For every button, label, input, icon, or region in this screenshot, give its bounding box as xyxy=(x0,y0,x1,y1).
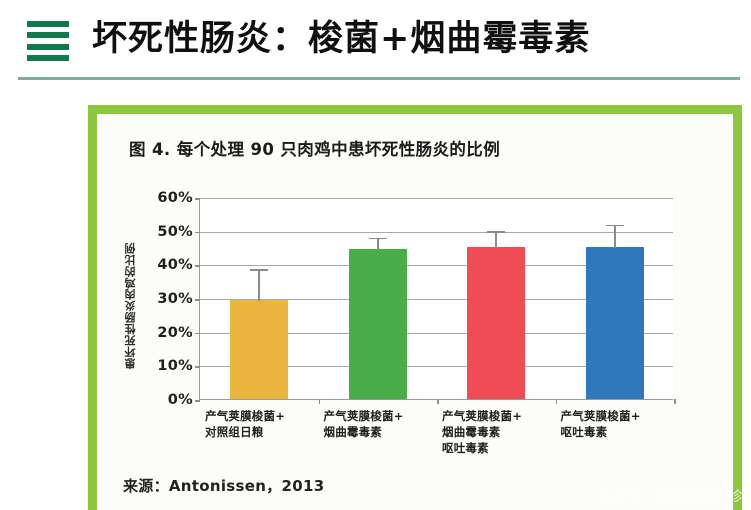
x-axis-tick-labels: 产气荚膜梭菌+对照组日粮产气荚膜梭菌+烟曲霉毒素产气荚膜梭菌+烟曲霉毒素呕吐毒素… xyxy=(199,408,685,478)
y-axis-title: 患坏死性肠炎肉鸡的比例 xyxy=(123,208,139,404)
y-axis-tick-label: 50% xyxy=(157,224,193,240)
error-bar-cap xyxy=(487,231,505,233)
x-axis-category-line: 烟曲霉毒素 xyxy=(324,424,437,440)
y-axis-tick-mark xyxy=(195,400,200,402)
y-axis-tick-label: 0% xyxy=(168,392,193,408)
y-axis-tick-mark xyxy=(195,333,200,335)
error-bar-stem xyxy=(495,231,497,248)
figure-source: 来源：Antonissen，2013 xyxy=(123,475,324,496)
y-axis-tick-mark xyxy=(195,299,200,301)
error-bar-cap xyxy=(250,269,268,271)
y-axis-tick-label: 40% xyxy=(157,257,193,273)
error-bar-stem xyxy=(377,238,379,250)
x-axis-category-line: 呕吐毒素 xyxy=(561,424,674,440)
page-title: 坏死性肠炎：梭菌+烟曲霉毒素 xyxy=(92,10,590,68)
x-axis-category-label: 产气荚膜梭菌+烟曲霉毒素 xyxy=(324,408,437,440)
error-bar-cap xyxy=(606,225,624,227)
x-axis-category-line: 产气荚膜梭菌+ xyxy=(205,408,318,424)
watermark: 头条号 / 网络鸡病门诊 xyxy=(597,486,743,506)
bar xyxy=(467,247,525,399)
y-axis-tick-mark xyxy=(195,232,200,234)
x-axis-category-line: 产气荚膜梭菌+ xyxy=(561,408,674,424)
error-bar-stem xyxy=(614,225,616,249)
x-axis-tick-mark xyxy=(319,399,321,404)
y-axis-tick-label: 10% xyxy=(157,358,193,374)
bar xyxy=(349,249,407,399)
x-axis-tick-mark xyxy=(556,399,558,404)
hamburger-bar-2 xyxy=(27,32,69,38)
x-axis-category-line: 呕吐毒素 xyxy=(442,440,555,456)
error-bar-stem xyxy=(258,269,260,301)
x-axis-category-label: 产气荚膜梭菌+呕吐毒素 xyxy=(561,408,674,440)
figure-card: 图 4. 每个处理 90 只肉鸡中患坏死性肠炎的比例 患坏死性肠炎肉鸡的比例 6… xyxy=(88,105,742,510)
figure-inner-panel: 图 4. 每个处理 90 只肉鸡中患坏死性肠炎的比例 患坏死性肠炎肉鸡的比例 6… xyxy=(97,114,733,510)
hamburger-bar-3 xyxy=(27,44,69,50)
x-axis-category-label: 产气荚膜梭菌+对照组日粮 xyxy=(205,408,318,440)
hamburger-icon[interactable] xyxy=(27,21,69,61)
header-divider xyxy=(18,77,740,80)
gridline xyxy=(200,198,673,199)
page-header: 坏死性肠炎：梭菌+烟曲霉毒素 xyxy=(0,0,751,82)
error-bar-cap xyxy=(369,238,387,240)
x-axis-category-line: 烟曲霉毒素 xyxy=(442,424,555,440)
plot-area xyxy=(199,198,673,400)
x-axis-tick-mark xyxy=(437,399,439,404)
hamburger-bar-1 xyxy=(27,21,69,27)
x-axis-category-label: 产气荚膜梭菌+烟曲霉毒素呕吐毒素 xyxy=(442,408,555,456)
x-axis-category-line: 产气荚膜梭菌+ xyxy=(442,408,555,424)
y-axis-tick-labels: 60%50%40%30%20%10%0% xyxy=(141,198,197,400)
x-axis-category-line: 对照组日粮 xyxy=(205,424,318,440)
bar-chart: 患坏死性肠炎肉鸡的比例 60%50%40%30%20%10%0% 产气荚膜梭菌+… xyxy=(97,176,733,476)
y-axis-tick-mark xyxy=(195,265,200,267)
x-axis-tick-mark xyxy=(674,399,676,404)
y-axis-tick-mark xyxy=(195,366,200,368)
gridline xyxy=(200,232,673,233)
figure-title: 图 4. 每个处理 90 只肉鸡中患坏死性肠炎的比例 xyxy=(129,136,500,160)
y-axis-tick-label: 60% xyxy=(157,190,193,206)
y-axis-tick-label: 20% xyxy=(157,325,193,341)
hamburger-bar-4 xyxy=(27,55,69,61)
bar xyxy=(586,247,644,399)
y-axis-tick-label: 30% xyxy=(157,291,193,307)
bar xyxy=(230,300,288,399)
x-axis-category-line: 产气荚膜梭菌+ xyxy=(324,408,437,424)
y-axis-tick-mark xyxy=(195,198,200,200)
